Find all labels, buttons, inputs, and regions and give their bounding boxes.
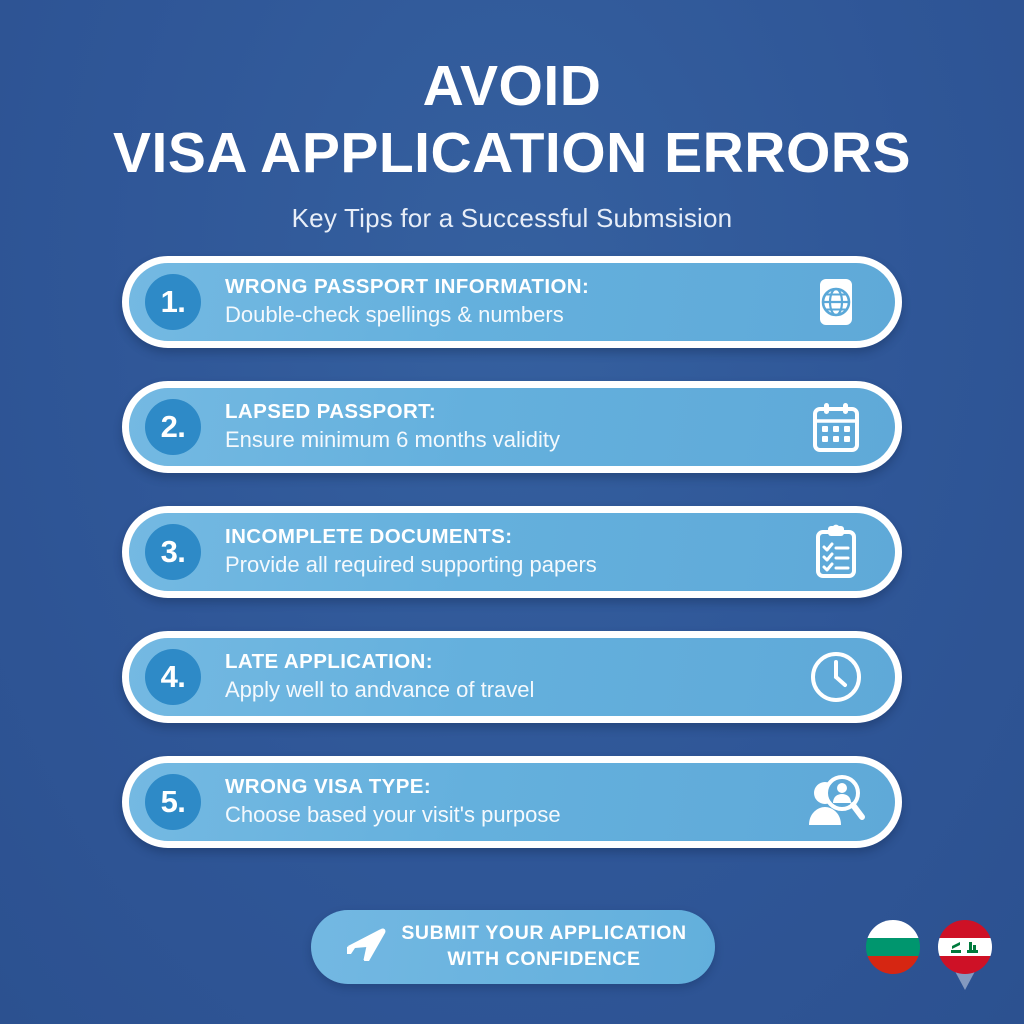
tip-number-badge: 5.	[145, 774, 201, 830]
tip-card-2[interactable]: 2. LAPSED PASSPORT: Ensure minimum 6 mon…	[122, 381, 902, 473]
cta-line-2: WITH CONFIDENCE	[401, 947, 686, 973]
tip-card-4[interactable]: 4. LATE APPLICATION: Apply well to andva…	[122, 631, 902, 723]
tip-card-5[interactable]: 5. WRONG VISA TYPE: Choose based your vi…	[122, 756, 902, 848]
page-title: AVOID VISA APPLICATION ERRORS	[0, 57, 1024, 181]
tip-number-badge: 4.	[145, 649, 201, 705]
tip-card-3[interactable]: 3. INCOMPLETE DOCUMENTS: Provide all req…	[122, 506, 902, 598]
submit-application-button[interactable]: SUBMIT YOUR APPLICATION WITH CONFIDENCE	[311, 910, 715, 984]
tip-number-badge: 1.	[145, 274, 201, 330]
tip-description: Provide all required supporting papers	[225, 551, 805, 580]
iraq-flag-circle	[938, 920, 992, 974]
tip-number-badge: 3.	[145, 524, 201, 580]
tip-text-block: INCOMPLETE DOCUMENTS: Provide all requir…	[225, 524, 805, 579]
tips-list: 1. WRONG PASSPORT INFORMATION: Double-ch…	[122, 256, 902, 881]
airplane-icon	[343, 925, 387, 970]
tip-heading: LATE APPLICATION:	[225, 649, 805, 675]
tip-description: Double-check spellings & numbers	[225, 301, 805, 330]
tip-text-block: WRONG PASSPORT INFORMATION: Double-check…	[225, 274, 805, 329]
tip-card-1[interactable]: 1. WRONG PASSPORT INFORMATION: Double-ch…	[122, 256, 902, 348]
tip-text-block: WRONG VISA TYPE: Choose based your visit…	[225, 774, 805, 829]
clock-icon	[805, 646, 867, 708]
tip-heading: INCOMPLETE DOCUMENTS:	[225, 524, 805, 550]
tip-text-block: LAPSED PASSPORT: Ensure minimum 6 months…	[225, 399, 805, 454]
tip-heading: LAPSED PASSPORT:	[225, 399, 805, 425]
passport-globe-icon	[805, 271, 867, 333]
cta-label: SUBMIT YOUR APPLICATION WITH CONFIDENCE	[401, 921, 686, 972]
calendar-icon	[805, 396, 867, 458]
clipboard-checklist-icon	[805, 521, 867, 583]
tip-number-badge: 2.	[145, 399, 201, 455]
tip-heading: WRONG PASSPORT INFORMATION:	[225, 274, 805, 300]
cta-line-1: SUBMIT YOUR APPLICATION	[401, 921, 686, 947]
title-line-2: VISA APPLICATION ERRORS	[0, 124, 1024, 182]
iraq-flag	[938, 920, 992, 974]
flag-badges	[866, 920, 992, 974]
bulgaria-flag	[866, 920, 920, 974]
tip-heading: WRONG VISA TYPE:	[225, 774, 805, 800]
tip-description: Apply well to andvance of travel	[225, 676, 805, 705]
title-line-1: AVOID	[0, 57, 1024, 115]
bulgaria-flag-circle	[866, 920, 920, 974]
tip-description: Ensure minimum 6 months validity	[225, 426, 805, 455]
header: AVOID VISA APPLICATION ERRORS Key Tips f…	[0, 0, 1024, 234]
person-search-icon	[805, 771, 867, 833]
tip-text-block: LATE APPLICATION: Apply well to andvance…	[225, 649, 805, 704]
iraq-script-glyphs	[938, 920, 992, 974]
infographic-poster: AVOID VISA APPLICATION ERRORS Key Tips f…	[0, 0, 1024, 1024]
subtitle: Key Tips for a Successful Submsision	[0, 203, 1024, 234]
tip-description: Choose based your visit's purpose	[225, 801, 805, 830]
